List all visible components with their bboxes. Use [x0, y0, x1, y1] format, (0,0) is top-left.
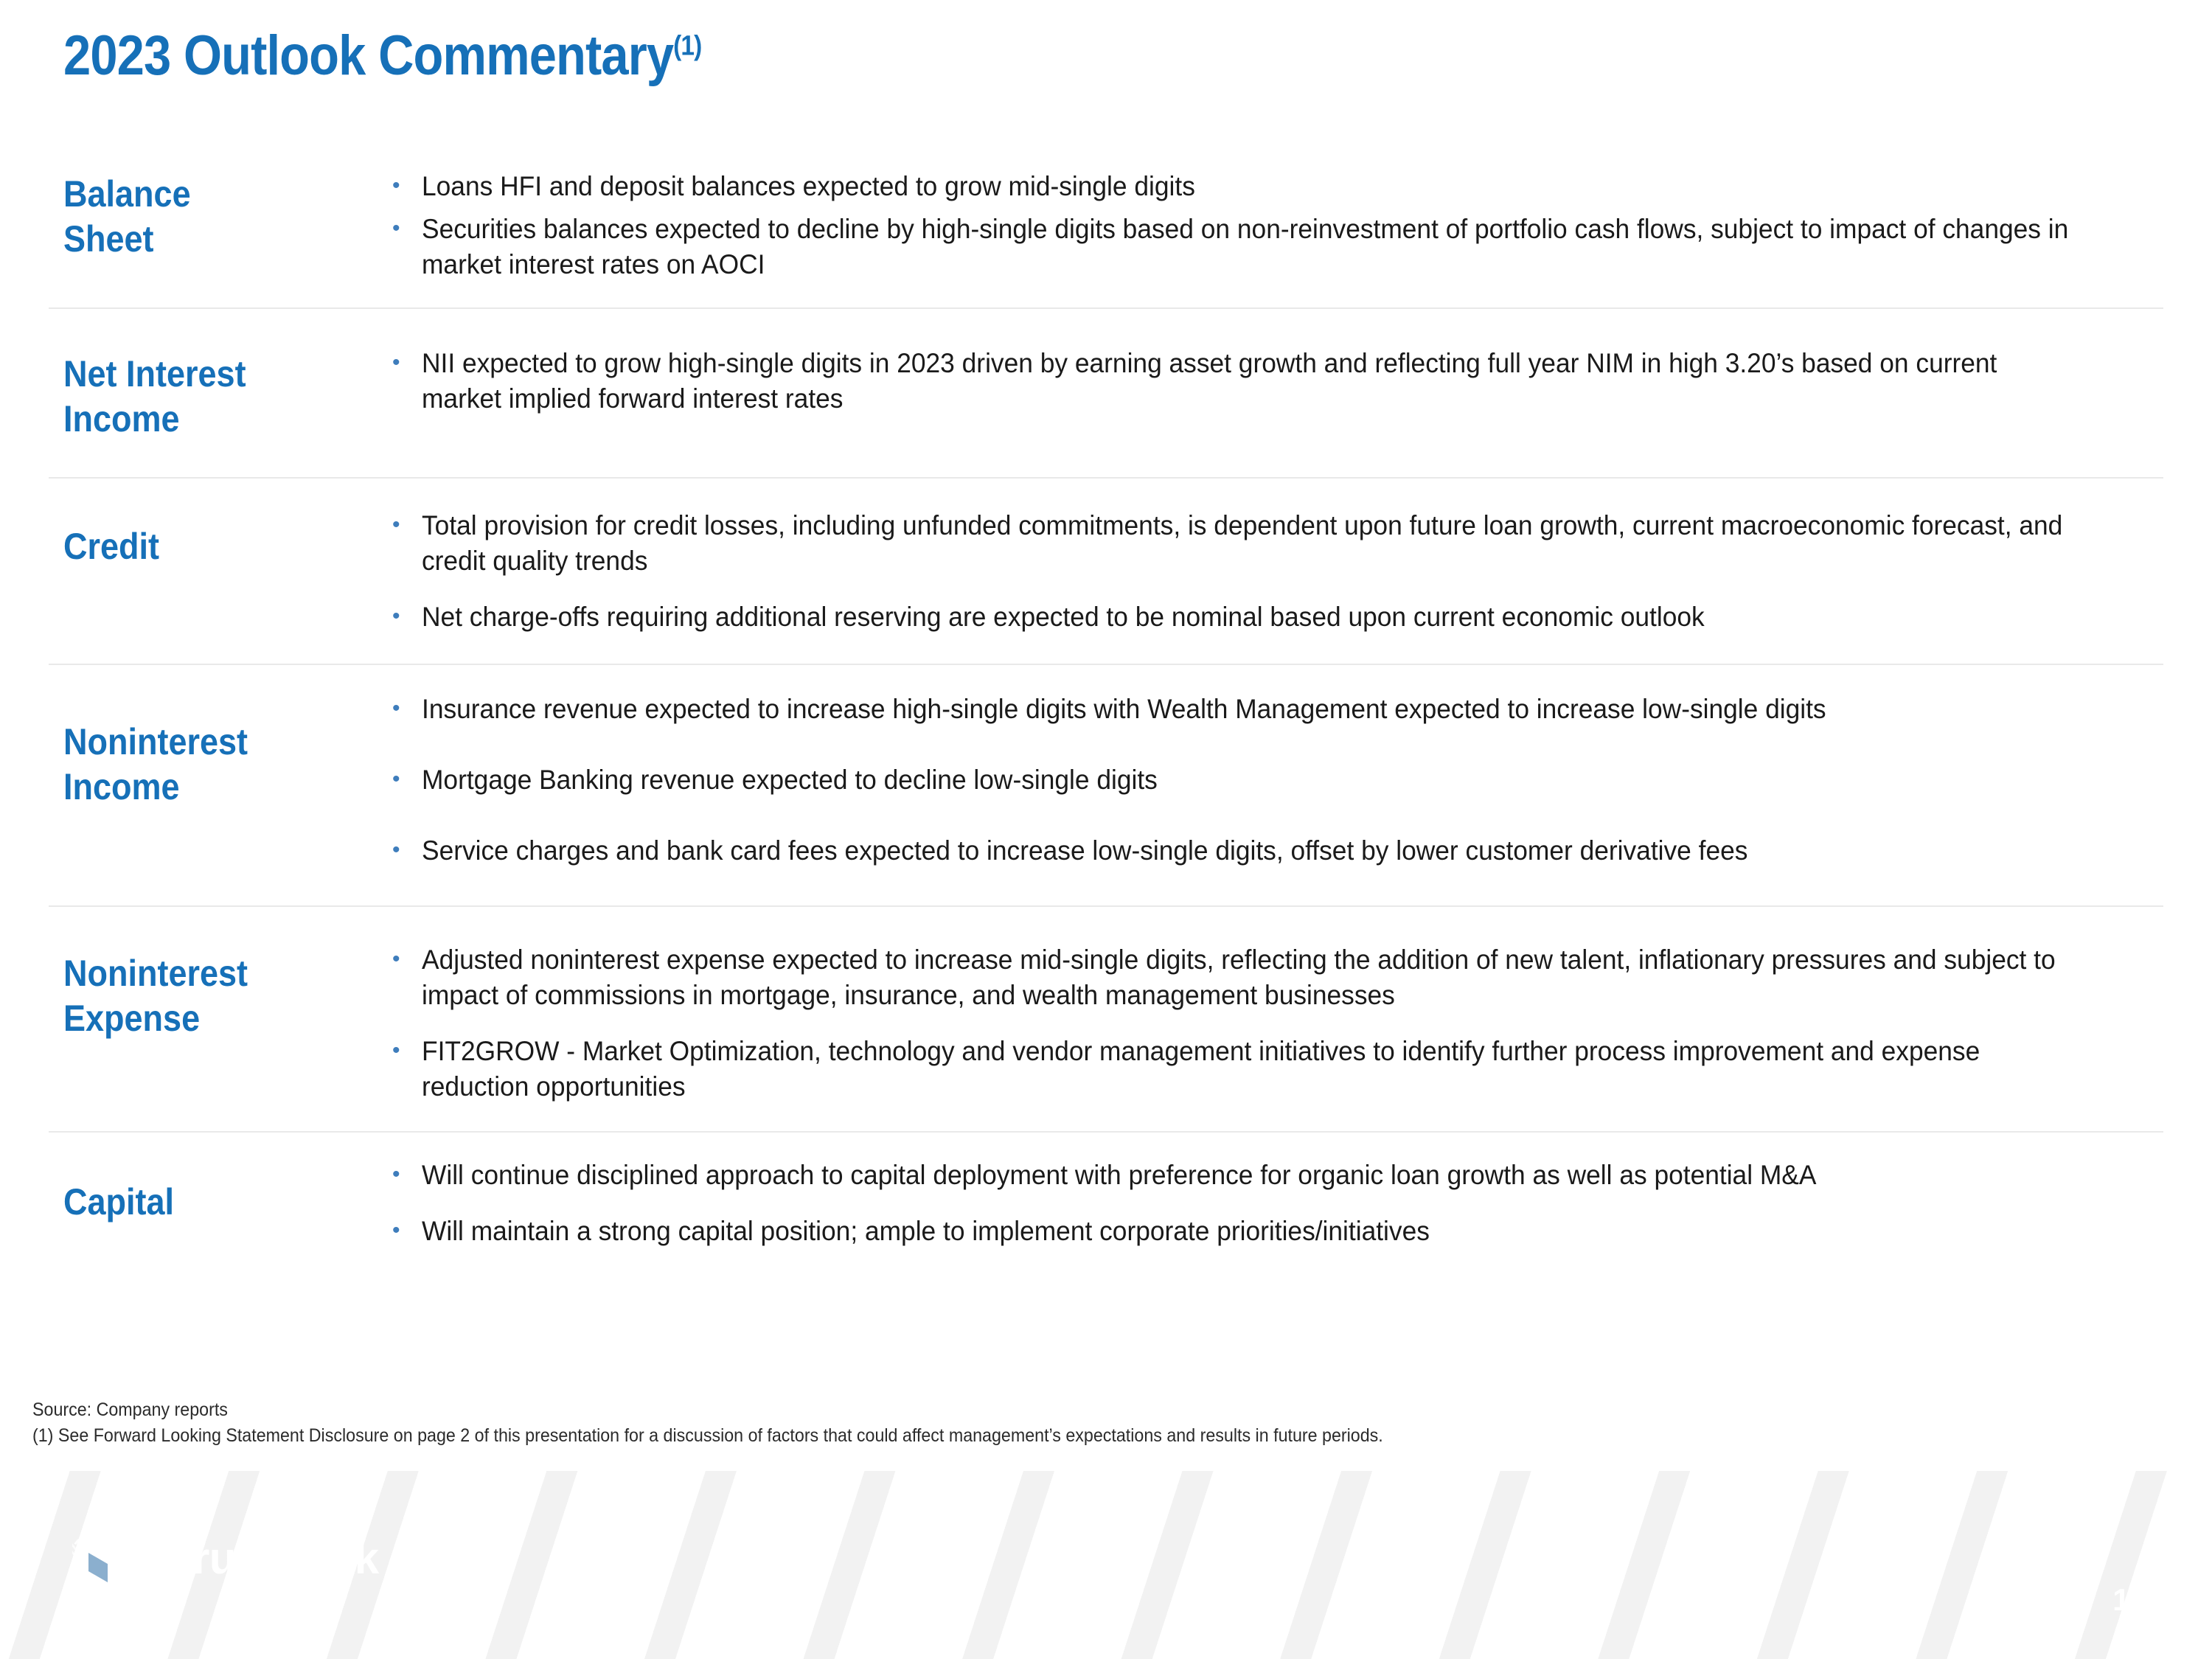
- bullet-dot-icon: •: [388, 1034, 422, 1068]
- list-item-text: NII expected to grow high-single digits …: [422, 346, 2078, 417]
- list-item: • Will continue disciplined approach to …: [388, 1158, 2156, 1193]
- bullets-cell-noninterest-expense: • Adjusted noninterest expense expected …: [388, 942, 2163, 1105]
- table-row-noninterest-income: Noninterest Income • Insurance revenue e…: [49, 665, 2163, 907]
- bullet-dot-icon: •: [388, 212, 422, 246]
- list-item: • Insurance revenue expected to increase…: [388, 692, 2156, 727]
- table-row-balance-sheet: Balance Sheet • Loans HFI and deposit ba…: [49, 151, 2163, 309]
- list-item-text: Service charges and bank card fees expec…: [422, 833, 2078, 869]
- category-cell-balance-sheet: Balance Sheet: [49, 169, 388, 262]
- slide-canvas: 2023 Outlook Commentary(1) Balance Sheet…: [0, 0, 2212, 1659]
- bullets-cell-balance-sheet: • Loans HFI and deposit balances expecte…: [388, 169, 2163, 282]
- category-cell-net-interest-income: Net Interest Income: [49, 346, 388, 442]
- list-item: • Loans HFI and deposit balances expecte…: [388, 169, 2156, 204]
- list-item: • Net charge-offs requiring additional r…: [388, 599, 2156, 635]
- page-title: 2023 Outlook Commentary(1): [63, 28, 788, 84]
- table-row-credit: Credit • Total provision for credit loss…: [49, 479, 2163, 664]
- bullet-dot-icon: •: [388, 762, 422, 797]
- bullet-dot-icon: •: [388, 508, 422, 543]
- footnotes: Source: Company reports (1) See Forward …: [32, 1397, 1383, 1449]
- table-row-net-interest-income: Net Interest Income • NII expected to gr…: [49, 309, 2163, 479]
- page-title-text: 2023 Outlook Commentary: [63, 24, 673, 87]
- list-item-text: Insurance revenue expected to increase h…: [422, 692, 2078, 727]
- bullets-cell-noninterest-income: • Insurance revenue expected to increase…: [388, 692, 2163, 869]
- table-row-noninterest-expense: Noninterest Expense • Adjusted nonintere…: [49, 907, 2163, 1133]
- footnote-source: Source: Company reports: [32, 1397, 1383, 1423]
- brand-logo: Trustmark: [66, 1517, 379, 1600]
- bullet-dot-icon: •: [388, 169, 422, 204]
- list-item: • Total provision for credit losses, inc…: [388, 508, 2156, 579]
- list-item-text: Securities balances expected to decline …: [422, 212, 2078, 282]
- table-row-capital: Capital • Will continue disciplined appr…: [49, 1133, 2163, 1274]
- list-item-text: Net charge-offs requiring additional res…: [422, 599, 2078, 635]
- list-item-text: Loans HFI and deposit balances expected …: [422, 169, 2078, 204]
- category-label: Noninterest Income: [63, 720, 355, 810]
- footer-chevron-pattern: [811, 1471, 1843, 1659]
- category-label: Balance Sheet: [63, 172, 355, 262]
- category-cell-capital: Capital: [49, 1158, 388, 1225]
- list-item-text: Mortgage Banking revenue expected to dec…: [422, 762, 2078, 798]
- bullet-dot-icon: •: [388, 692, 422, 726]
- list-item-text: FIT2GROW - Market Optimization, technolo…: [422, 1034, 2078, 1105]
- list-item: • Mortgage Banking revenue expected to d…: [388, 762, 2156, 798]
- list-item: • NII expected to grow high-single digit…: [388, 346, 2156, 417]
- category-cell-noninterest-income: Noninterest Income: [49, 692, 388, 810]
- category-cell-noninterest-expense: Noninterest Expense: [49, 942, 388, 1041]
- bullet-dot-icon: •: [388, 1158, 422, 1192]
- category-cell-credit: Credit: [49, 508, 388, 569]
- list-item-text: Adjusted noninterest expense expected to…: [422, 942, 2078, 1013]
- page-title-footnote-marker: (1): [673, 31, 701, 62]
- category-label: Capital: [63, 1180, 355, 1225]
- list-item: • Will maintain a strong capital positio…: [388, 1214, 2156, 1249]
- category-label: Credit: [63, 524, 355, 569]
- list-item-text: Will continue disciplined approach to ca…: [422, 1158, 2078, 1193]
- outlook-commentary-table: Balance Sheet • Loans HFI and deposit ba…: [49, 151, 2163, 1274]
- list-item: • Service charges and bank card fees exp…: [388, 833, 2156, 869]
- list-item: • Adjusted noninterest expense expected …: [388, 942, 2156, 1013]
- trustmark-cube-icon: [66, 1517, 149, 1600]
- list-item: • Securities balances expected to declin…: [388, 212, 2156, 282]
- bullet-dot-icon: •: [388, 1214, 422, 1248]
- bullet-dot-icon: •: [388, 942, 422, 977]
- list-item: • FIT2GROW - Market Optimization, techno…: [388, 1034, 2156, 1105]
- bullet-dot-icon: •: [388, 346, 422, 380]
- bullets-cell-credit: • Total provision for credit losses, inc…: [388, 508, 2163, 635]
- brand-logo-text: Trustmark: [168, 1537, 379, 1581]
- bullets-cell-capital: • Will continue disciplined approach to …: [388, 1158, 2163, 1249]
- footnote-1: (1) See Forward Looking Statement Disclo…: [32, 1423, 1383, 1449]
- list-item-text: Will maintain a strong capital position;…: [422, 1214, 2078, 1249]
- bullets-cell-net-interest-income: • NII expected to grow high-single digit…: [388, 346, 2163, 417]
- category-label: Net Interest Income: [63, 352, 355, 442]
- bullet-dot-icon: •: [388, 833, 422, 868]
- list-item-text: Total provision for credit losses, inclu…: [422, 508, 2078, 579]
- category-label: Noninterest Expense: [63, 951, 355, 1041]
- page-number: 17: [2112, 1582, 2147, 1618]
- bullet-dot-icon: •: [388, 599, 422, 634]
